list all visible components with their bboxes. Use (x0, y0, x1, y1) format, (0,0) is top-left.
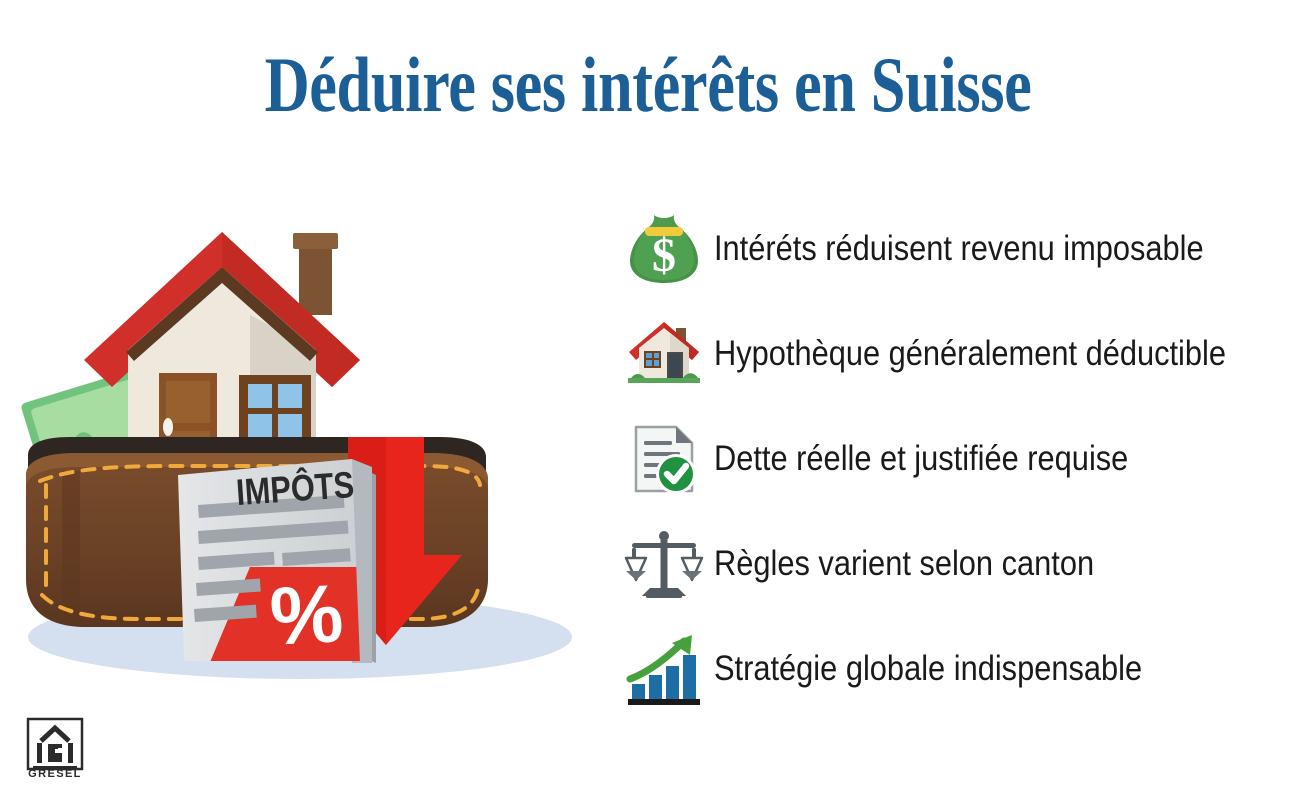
list-item: Hypothèque généralement déductible (618, 301, 1288, 406)
balance-scale-icon (618, 518, 710, 610)
list-item: Règles varient selon canton (618, 511, 1288, 616)
gresel-wordmark: GRESEL (28, 768, 82, 778)
money-bag-icon: $ (618, 203, 710, 295)
growth-chart-icon (618, 623, 710, 715)
document-label: IMPÔTS (235, 463, 356, 513)
bullet-list: $ Intéréts réduisent revenu imposable (618, 196, 1288, 721)
list-item-label: Intéréts réduisent revenu imposable (714, 229, 1204, 269)
wallet-house-tax-illustration: $ (0, 175, 620, 695)
list-item-label: Stratégie globale indispensable (714, 649, 1142, 689)
list-item: Dette réelle et justifiée requise (618, 406, 1288, 511)
list-item: Stratégie globale indispensable (618, 616, 1288, 721)
gresel-logo[interactable]: GRESEL (24, 716, 86, 778)
infographic-canvas: Déduire ses intérêts en Suisse (0, 0, 1296, 800)
page-title: Déduire ses intérêts en Suisse (130, 46, 1167, 124)
document-check-icon (618, 413, 710, 505)
list-item-label: Règles varient selon canton (714, 544, 1094, 584)
list-item-label: Dette réelle et justifiée requise (714, 439, 1128, 479)
list-item-label: Hypothèque généralement déductible (714, 334, 1226, 374)
house-icon (618, 308, 710, 400)
tax-document: % IMPÔTS (178, 459, 376, 667)
list-item: $ Intéréts réduisent revenu imposable (618, 196, 1288, 301)
svg-text:$: $ (652, 229, 676, 282)
percent-symbol: % (268, 568, 346, 663)
